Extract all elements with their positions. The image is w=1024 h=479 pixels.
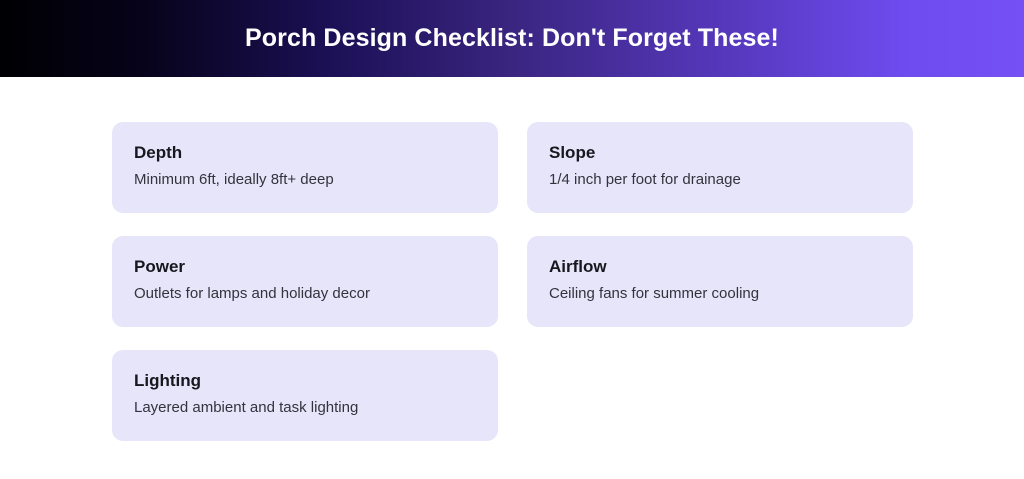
checklist-card-airflow: Airflow Ceiling fans for summer cooling [527,236,913,327]
checklist-content: Depth Minimum 6ft, ideally 8ft+ deep Pow… [112,122,912,441]
header-banner: Porch Design Checklist: Don't Forget The… [0,0,1024,77]
card-description: Outlets for lamps and holiday decor [134,284,476,303]
checklist-column-right: Slope 1/4 inch per foot for drainage Air… [527,122,913,441]
page-title: Porch Design Checklist: Don't Forget The… [245,26,779,51]
card-title: Lighting [134,371,476,391]
card-description: Layered ambient and task lighting [134,398,476,417]
checklist-column-left: Depth Minimum 6ft, ideally 8ft+ deep Pow… [112,122,498,441]
card-description: 1/4 inch per foot for drainage [549,170,891,189]
checklist-card-slope: Slope 1/4 inch per foot for drainage [527,122,913,213]
checklist-columns: Depth Minimum 6ft, ideally 8ft+ deep Pow… [112,122,912,441]
card-title: Airflow [549,257,891,277]
card-title: Depth [134,143,476,163]
card-title: Slope [549,143,891,163]
card-description: Minimum 6ft, ideally 8ft+ deep [134,170,476,189]
checklist-card-depth: Depth Minimum 6ft, ideally 8ft+ deep [112,122,498,213]
infographic-page: Porch Design Checklist: Don't Forget The… [0,0,1024,479]
card-description: Ceiling fans for summer cooling [549,284,891,303]
checklist-card-lighting: Lighting Layered ambient and task lighti… [112,350,498,441]
checklist-card-power: Power Outlets for lamps and holiday deco… [112,236,498,327]
card-title: Power [134,257,476,277]
